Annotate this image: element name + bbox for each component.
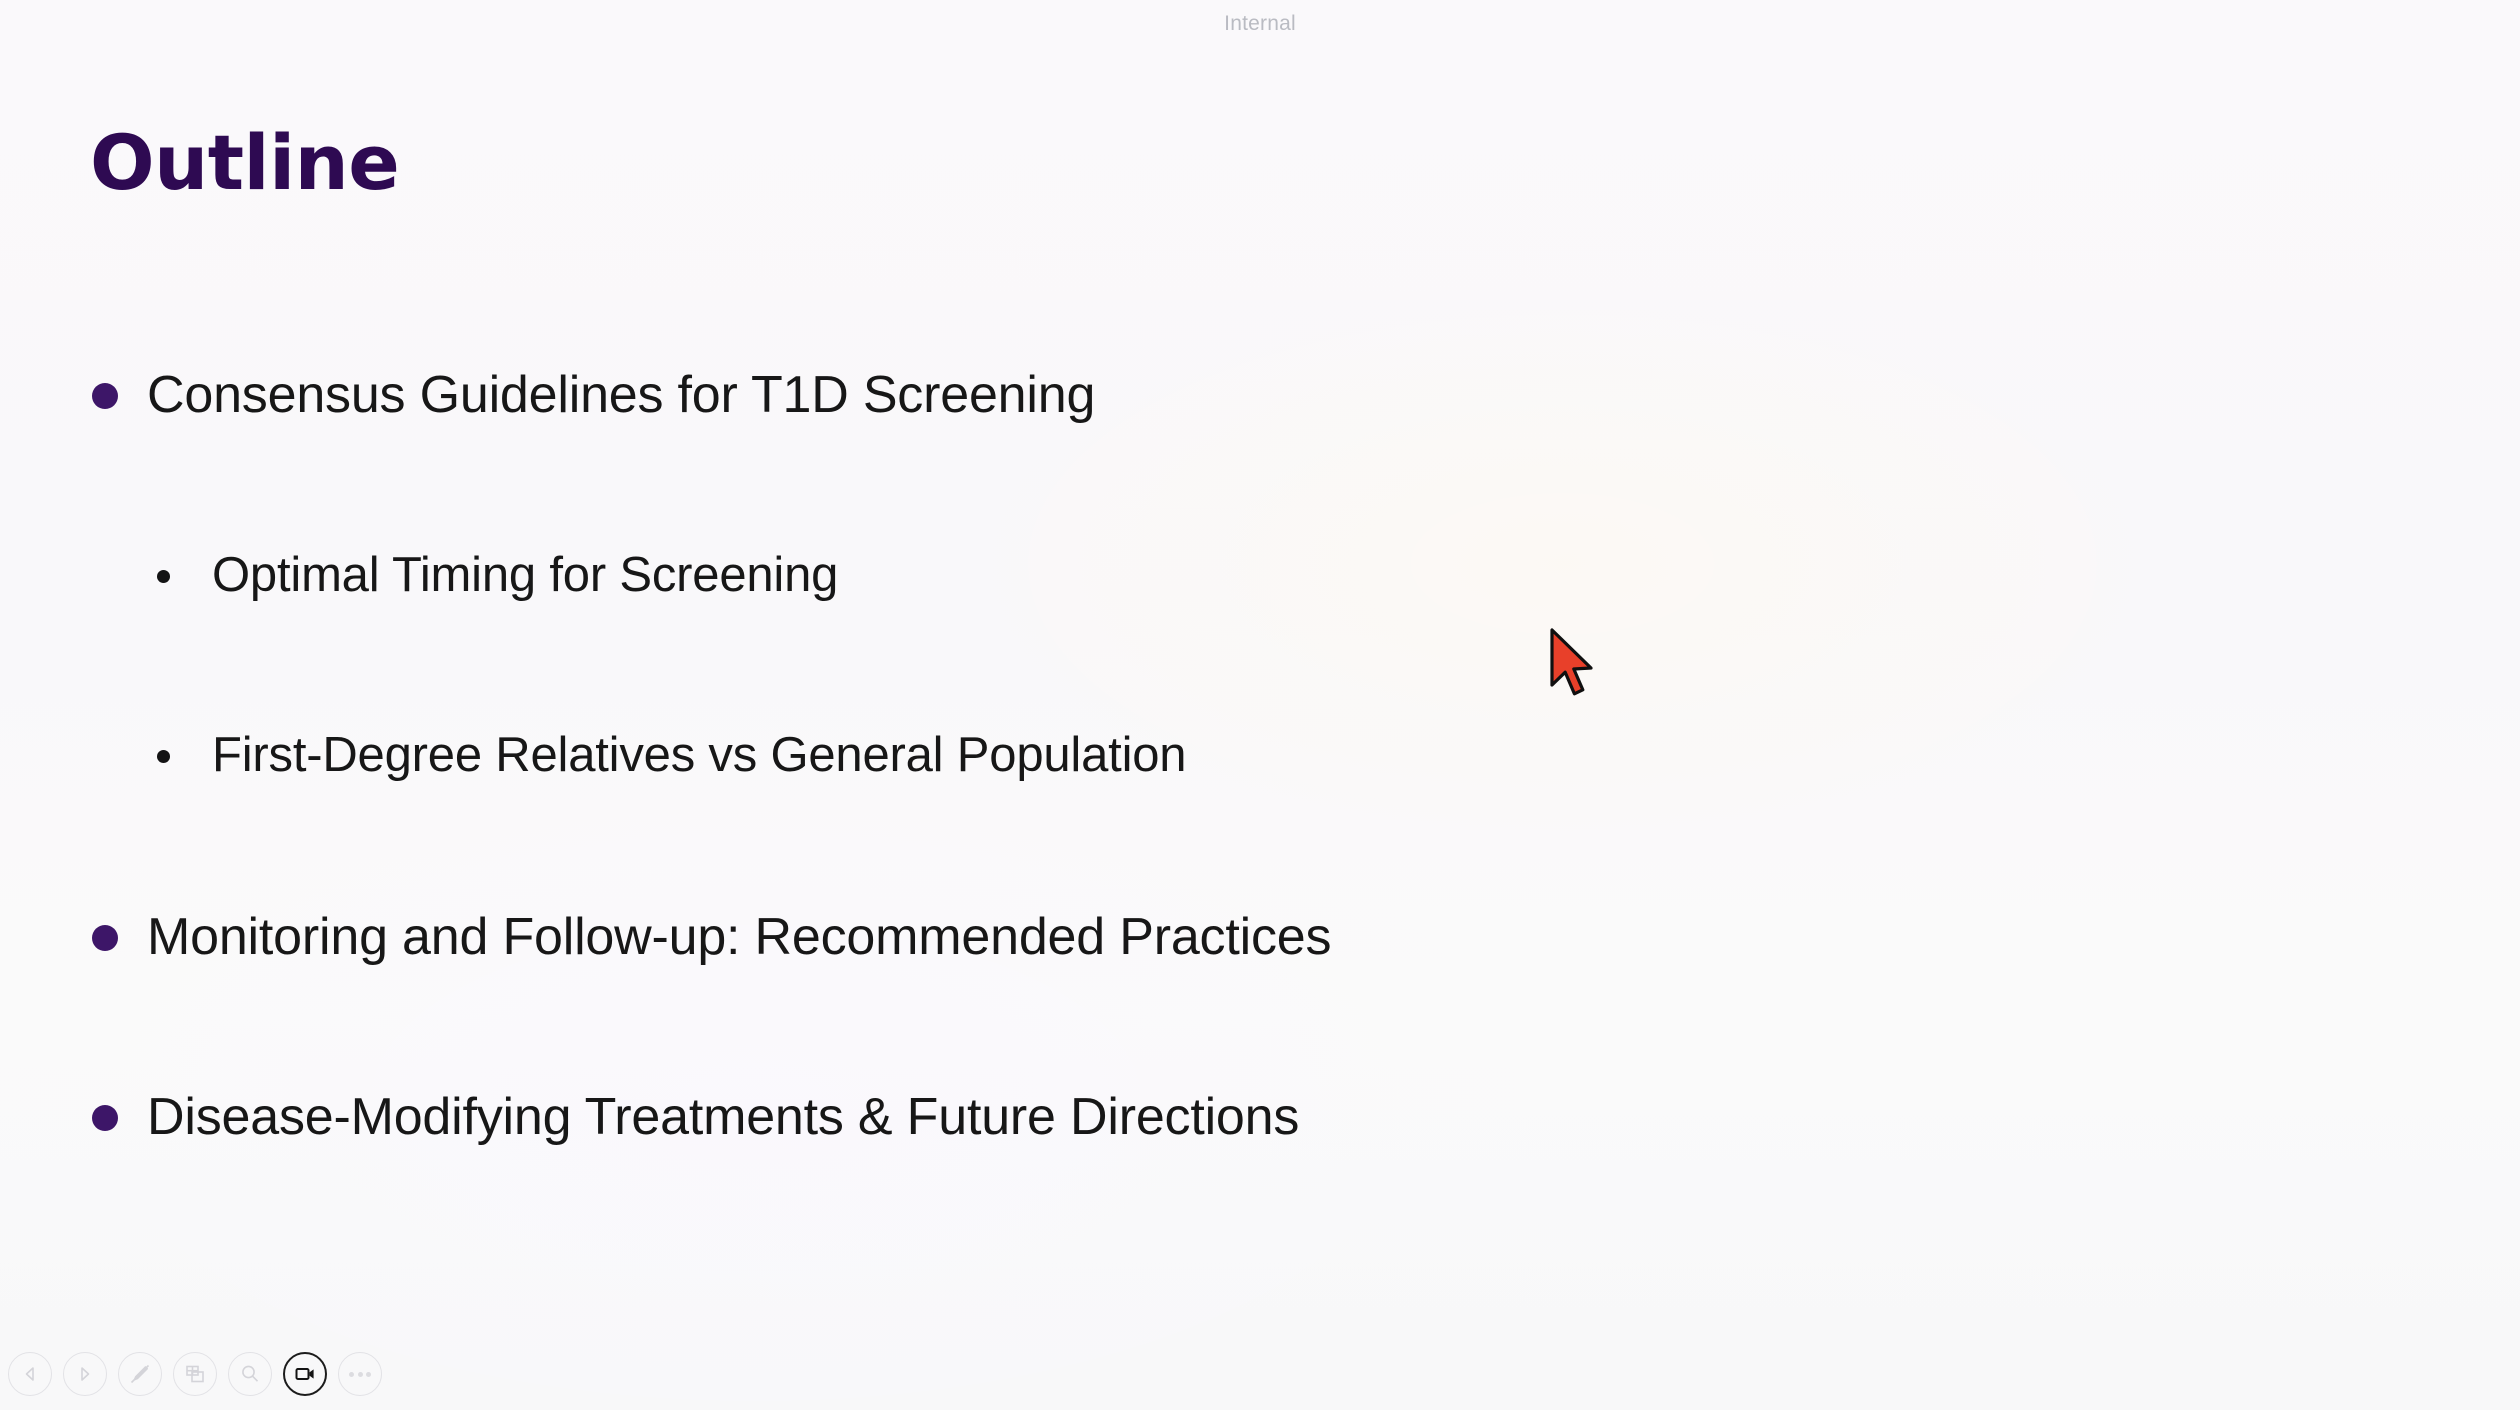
slide-title: Outline	[90, 125, 399, 201]
pen-icon	[128, 1362, 152, 1386]
pen-tool-button[interactable]	[118, 1352, 162, 1396]
bullet-item-level1: Disease-Modifying Treatments & Future Di…	[0, 1062, 2520, 1174]
bullet-marker-icon	[92, 1105, 118, 1131]
bullet-item-level2: Optimal Timing for Screening	[0, 520, 2520, 632]
slide-overview-button[interactable]	[173, 1352, 217, 1396]
next-arrow-icon	[74, 1363, 96, 1385]
bullet-text: First-Degree Relatives vs General Popula…	[212, 729, 1186, 783]
bullet-text: Consensus Guidelines for T1D Screening	[147, 367, 1095, 424]
spacer	[0, 452, 2520, 520]
more-dots-icon	[349, 1372, 371, 1377]
next-slide-button[interactable]	[63, 1352, 107, 1396]
video-camera-icon	[292, 1361, 318, 1387]
grid-slides-icon	[183, 1362, 207, 1386]
bullet-marker-icon	[92, 383, 118, 409]
bullet-item-level1: Monitoring and Follow-up: Recommended Pr…	[0, 882, 2520, 994]
magnifier-icon	[238, 1362, 262, 1386]
presenter-toolbar	[8, 1352, 382, 1396]
bullet-text: Monitoring and Follow-up: Recommended Pr…	[147, 909, 1331, 966]
confidentiality-watermark: Internal	[0, 12, 2520, 36]
spacer	[0, 994, 2520, 1062]
sub-bullet-marker-icon	[157, 750, 170, 763]
bullet-marker-icon	[92, 925, 118, 951]
previous-arrow-icon	[19, 1363, 41, 1385]
previous-slide-button[interactable]	[8, 1352, 52, 1396]
zoom-button[interactable]	[228, 1352, 272, 1396]
outline-bullet-list: Consensus Guidelines for T1D Screening O…	[0, 340, 2520, 1174]
bullet-item-level2: First-Degree Relatives vs General Popula…	[0, 700, 2520, 812]
bullet-item-level1: Consensus Guidelines for T1D Screening	[0, 340, 2520, 452]
bullet-text: Optimal Timing for Screening	[212, 549, 838, 603]
more-options-button[interactable]	[338, 1352, 382, 1396]
sub-bullet-marker-icon	[157, 570, 170, 583]
presentation-slide: Internal Outline Consensus Guidelines fo…	[0, 0, 2520, 1410]
spacer	[0, 632, 2520, 700]
bullet-text: Disease-Modifying Treatments & Future Di…	[147, 1089, 1299, 1146]
spacer	[0, 812, 2520, 882]
camera-button[interactable]	[283, 1352, 327, 1396]
